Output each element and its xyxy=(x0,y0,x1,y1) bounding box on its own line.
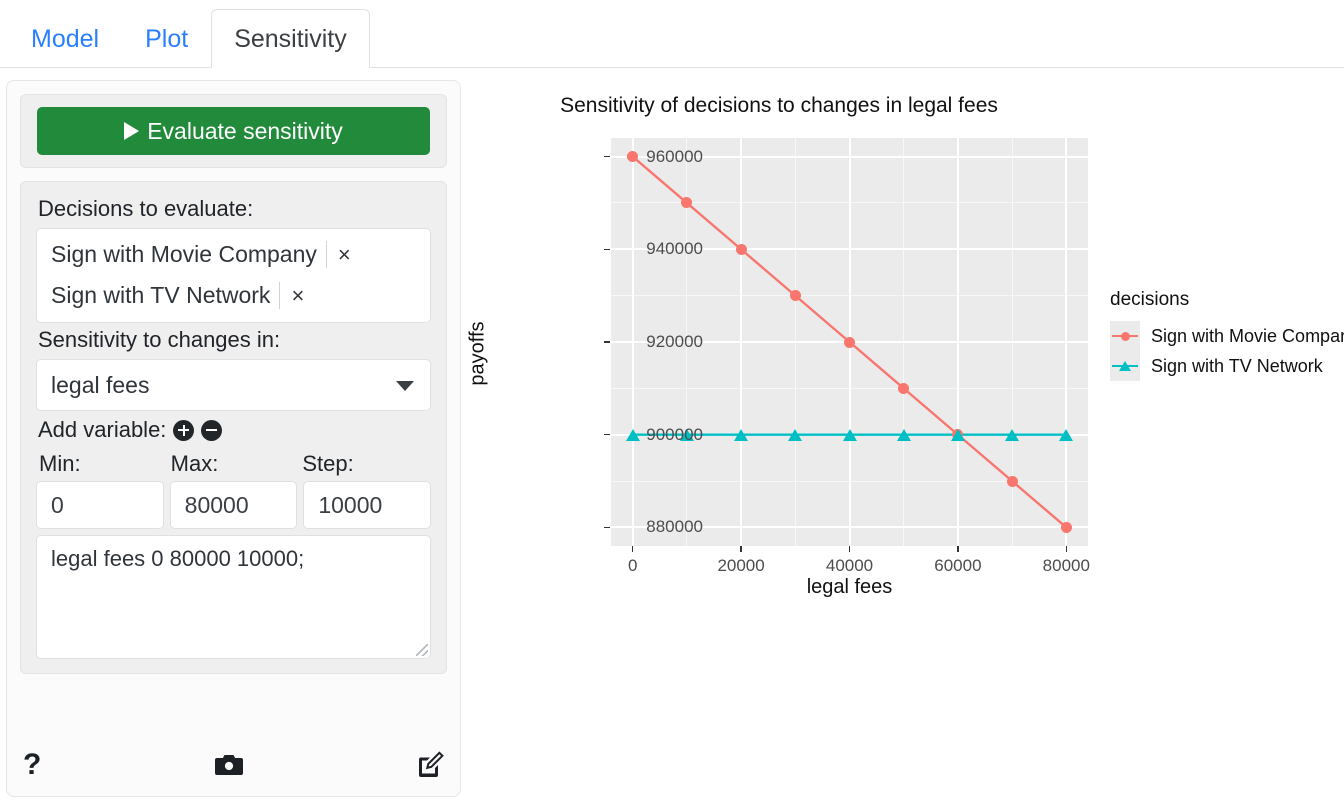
legend-title: decisions xyxy=(1110,289,1340,311)
grid-line-major-v xyxy=(957,138,959,546)
y-tick-mark xyxy=(604,434,610,435)
tab-model[interactable]: Model xyxy=(8,9,122,68)
data-point xyxy=(1059,429,1073,441)
resize-handle[interactable] xyxy=(416,644,428,656)
data-point xyxy=(790,290,801,301)
y-tick-label: 920000 xyxy=(646,332,703,352)
step-label: Step: xyxy=(299,451,431,477)
sensitivity-control-card: Evaluate sensitivity Decisions to evalua… xyxy=(6,80,461,797)
data-point xyxy=(626,429,640,441)
y-tick-mark xyxy=(604,341,610,342)
settings-panel: Decisions to evaluate: Sign with Movie C… xyxy=(20,181,447,674)
minus-icon xyxy=(206,429,217,432)
evaluate-sensitivity-button[interactable]: Evaluate sensitivity xyxy=(37,107,430,155)
legend-item-movie-company[interactable]: Sign with Movie Company xyxy=(1110,321,1340,351)
decisions-label: Decisions to evaluate: xyxy=(38,196,431,222)
x-axis-label: legal fees xyxy=(611,576,1088,599)
data-point xyxy=(844,337,855,348)
add-variable-label: Add variable: xyxy=(38,417,166,443)
y-tick-label: 940000 xyxy=(646,239,703,259)
sensitivity-to-label: Sensitivity to changes in: xyxy=(38,327,431,353)
x-tick-label: 60000 xyxy=(934,556,981,576)
legend-label: Sign with TV Network xyxy=(1151,356,1323,377)
data-point xyxy=(1007,476,1018,487)
x-tick-mark xyxy=(1066,546,1067,552)
evaluate-sensitivity-label: Evaluate sensitivity xyxy=(147,118,343,145)
legend-item-tv-network[interactable]: Sign with TV Network xyxy=(1110,351,1340,381)
y-tick-label: 960000 xyxy=(646,147,703,167)
decision-item-movie-company[interactable]: Sign with Movie Company × xyxy=(37,234,430,275)
chevron-down-icon xyxy=(396,381,414,391)
data-point xyxy=(736,244,747,255)
x-tick-label: 80000 xyxy=(1043,556,1090,576)
minmaxstep-labels: Min: Max: Step: xyxy=(36,451,431,477)
data-point xyxy=(898,383,909,394)
tab-sensitivity[interactable]: Sensitivity xyxy=(211,9,370,68)
variable-select-value: legal fees xyxy=(51,372,149,399)
x-tick-mark xyxy=(957,546,958,552)
remove-variable-button[interactable] xyxy=(201,420,222,441)
tab-list: Model Plot Sensitivity xyxy=(0,1,1344,68)
separator xyxy=(279,282,280,309)
card-footer: ? xyxy=(7,734,460,796)
data-point xyxy=(1061,522,1072,533)
play-icon xyxy=(124,122,139,140)
x-tick-label: 40000 xyxy=(826,556,873,576)
chart-title: Sensitivity of decisions to changes in l… xyxy=(462,94,1096,118)
min-input[interactable]: 0 xyxy=(36,481,164,529)
max-input[interactable]: 80000 xyxy=(170,481,298,529)
remove-decision-icon[interactable]: × xyxy=(338,244,351,266)
legend-label: Sign with Movie Company xyxy=(1151,326,1344,347)
variable-select[interactable]: legal fees xyxy=(36,359,431,411)
chart-legend: decisions Sign with Movie Company Sign w… xyxy=(1110,289,1340,381)
data-point xyxy=(788,429,802,441)
add-variable-button[interactable] xyxy=(173,420,194,441)
plus-icon-v xyxy=(183,425,186,436)
step-input[interactable]: 10000 xyxy=(303,481,431,529)
x-tick-label: 0 xyxy=(628,556,637,576)
separator xyxy=(326,241,327,268)
y-axis-label: payoffs xyxy=(467,321,490,385)
help-icon[interactable]: ? xyxy=(23,750,41,780)
y-tick-label: 900000 xyxy=(646,425,703,445)
data-point xyxy=(734,429,748,441)
sensitivity-script-textarea[interactable]: legal fees 0 80000 10000; xyxy=(36,535,431,659)
legend-key-circle-icon xyxy=(1110,321,1140,351)
x-tick-mark xyxy=(632,546,633,552)
x-tick-label: 20000 xyxy=(717,556,764,576)
data-point xyxy=(951,429,965,441)
decision-item-tv-network[interactable]: Sign with TV Network × xyxy=(37,275,430,316)
grid-line-major-v xyxy=(632,138,634,546)
grid-line-major-v xyxy=(1065,138,1067,546)
legend-key-triangle-icon xyxy=(1110,351,1140,381)
max-label: Max: xyxy=(168,451,300,477)
y-tick-mark xyxy=(604,527,610,528)
remove-decision-icon[interactable]: × xyxy=(291,285,304,307)
data-point xyxy=(897,429,911,441)
script-text: legal fees 0 80000 10000; xyxy=(51,546,304,571)
add-variable-row: Add variable: xyxy=(38,417,431,443)
x-tick-mark xyxy=(849,546,850,552)
minmaxstep-inputs: 0 80000 10000 xyxy=(36,481,431,529)
decisions-list[interactable]: Sign with Movie Company × Sign with TV N… xyxy=(36,228,431,323)
y-tick-mark xyxy=(604,156,610,157)
grid-line-major-v xyxy=(740,138,742,546)
decision-label: Sign with Movie Company xyxy=(51,241,317,268)
data-point xyxy=(1005,429,1019,441)
decision-label: Sign with TV Network xyxy=(51,282,270,309)
run-panel: Evaluate sensitivity xyxy=(20,94,447,168)
y-tick-label: 880000 xyxy=(646,517,703,537)
y-tick-mark xyxy=(604,249,610,250)
data-point xyxy=(843,429,857,441)
tab-plot[interactable]: Plot xyxy=(122,9,211,68)
camera-icon[interactable] xyxy=(214,753,244,777)
tab-strip: Model Plot Sensitivity xyxy=(0,0,1344,68)
edit-icon[interactable] xyxy=(416,751,444,779)
sensitivity-chart: Sensitivity of decisions to changes in l… xyxy=(462,80,1342,600)
x-tick-mark xyxy=(740,546,741,552)
min-label: Min: xyxy=(36,451,168,477)
